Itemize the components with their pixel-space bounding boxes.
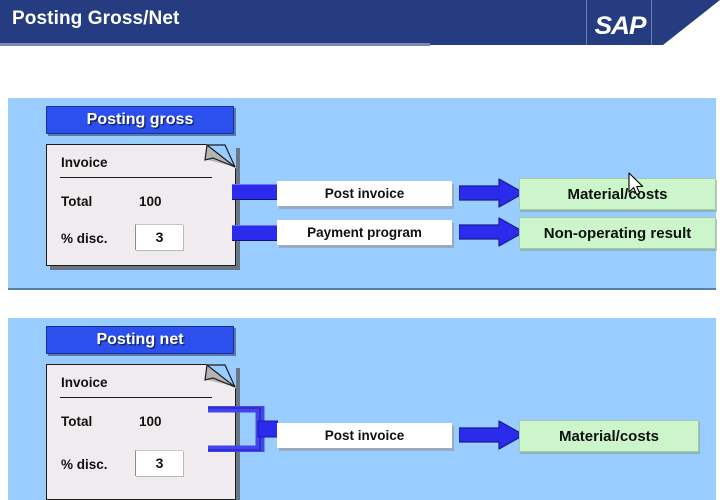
invoice-disc-label-gross: % disc. xyxy=(61,231,108,246)
arrow-icon-gross-1 xyxy=(459,178,525,210)
process-box-post-invoice-gross[interactable]: Post invoice xyxy=(277,181,452,206)
invoice-disc-label-net: % disc. xyxy=(61,457,108,472)
invoice-total-label-gross: Total xyxy=(61,194,92,209)
invoice-divider xyxy=(60,397,212,398)
invoice-total-value-net: 100 xyxy=(139,414,162,429)
section-posting-gross: Posting gross Invoice Total 100 % disc. … xyxy=(8,98,716,290)
result-box-material-costs-gross[interactable]: Material/costs xyxy=(519,178,716,210)
section-title-posting-gross: Posting gross xyxy=(46,106,234,134)
process-box-post-invoice-net[interactable]: Post invoice xyxy=(277,423,452,448)
result-box-non-operating-result[interactable]: Non-operating result xyxy=(519,217,716,249)
invoice-heading-gross: Invoice xyxy=(61,155,108,170)
section-title-posting-net: Posting net xyxy=(46,326,234,354)
connector-bar-payment-program xyxy=(232,225,280,241)
arrow-icon-net-1 xyxy=(459,420,525,452)
invoice-total-value-gross: 100 xyxy=(139,194,162,209)
bracket-connector-net xyxy=(206,406,278,452)
header-underline xyxy=(0,43,430,46)
page-title: Posting Gross/Net xyxy=(12,8,179,30)
arrow-icon-gross-2 xyxy=(459,217,525,249)
invoice-disc-field-net[interactable]: 3 xyxy=(135,450,183,476)
result-box-material-costs-net[interactable]: Material/costs xyxy=(519,420,699,452)
connector-bar-post-invoice xyxy=(232,184,280,200)
invoice-divider xyxy=(60,177,212,178)
invoice-total-label-net: Total xyxy=(61,414,92,429)
invoice-heading-net: Invoice xyxy=(61,375,108,390)
invoice-disc-field-gross[interactable]: 3 xyxy=(135,224,183,250)
process-box-payment-program[interactable]: Payment program xyxy=(277,220,452,245)
invoice-card-gross: Invoice Total 100 % disc. 3 xyxy=(46,144,236,266)
section-posting-net: Posting net Invoice Total 100 % disc. 3 xyxy=(8,318,716,500)
sap-logo: SAP xyxy=(586,14,653,39)
slide-header: Posting Gross/Net SAP xyxy=(0,0,720,46)
